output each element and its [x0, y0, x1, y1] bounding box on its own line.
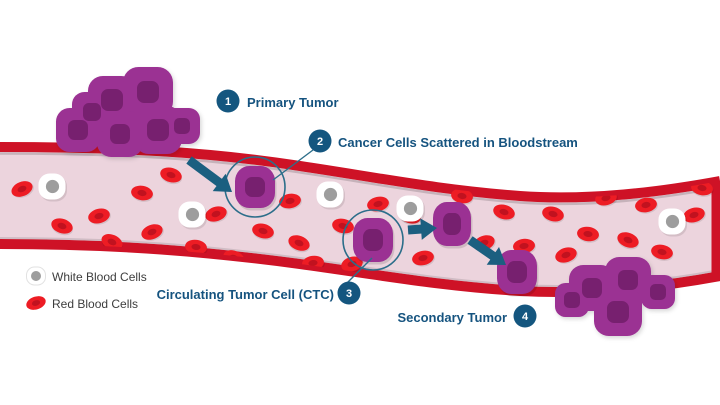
tumor-cell-nucleus: [618, 270, 638, 290]
tumor-cell-nucleus: [582, 278, 602, 298]
arrow-shaft: [408, 225, 423, 235]
ctc-nucleus: [363, 229, 383, 251]
tumor-cell-nucleus: [68, 120, 88, 140]
tumor-cell-nucleus: [83, 103, 101, 121]
callout-label: Primary Tumor: [247, 95, 339, 110]
tumor-cell-nucleus: [650, 284, 666, 300]
tumor-cell-nucleus: [147, 119, 169, 141]
tumor-cell-nucleus: [607, 301, 629, 323]
cancer-cell-free-1[interactable]: [433, 202, 473, 249]
callout-badge-number: 2: [317, 136, 323, 148]
white-blood-cell: [659, 209, 688, 237]
ctc-nucleus: [507, 261, 527, 283]
callout-label: Circulating Tumor Cell (CTC): [157, 287, 334, 302]
white-blood-cell: [179, 202, 208, 230]
white-blood-cell: [39, 174, 68, 202]
metastasis-diagram: 1Primary Tumor2Cancer Cells Scattered in…: [0, 0, 720, 405]
cancer-cell-free-2[interactable]: [497, 250, 539, 297]
callout-badge-number: 4: [522, 311, 529, 323]
callout-label: Cancer Cells Scattered in Bloodstream: [338, 135, 578, 150]
wbc-nucleus: [404, 202, 417, 215]
legend-label: Red Blood Cells: [52, 297, 138, 311]
tumor-cell-nucleus: [174, 118, 190, 134]
tumor-cell-nucleus: [101, 89, 123, 111]
wbc-nucleus: [324, 188, 337, 201]
tumor-cell-nucleus: [110, 124, 130, 144]
wbc-nucleus: [666, 215, 679, 228]
callout-badge-number: 3: [346, 288, 352, 300]
wbc-nucleus: [46, 180, 59, 193]
callout-badge-number: 1: [225, 96, 231, 108]
wbc-nucleus: [186, 208, 199, 221]
tumor-cell-nucleus: [564, 292, 580, 308]
legend-label: White Blood Cells: [52, 270, 147, 284]
tumor-cell-nucleus: [137, 81, 159, 103]
ctc-nucleus: [245, 177, 265, 197]
ctc-nucleus: [443, 213, 461, 235]
white-blood-cell: [317, 182, 346, 210]
diagram-canvas: 1Primary Tumor2Cancer Cells Scattered in…: [0, 0, 720, 405]
wbc-icon-nucleus: [31, 271, 41, 281]
callout-label: Secondary Tumor: [397, 310, 507, 325]
